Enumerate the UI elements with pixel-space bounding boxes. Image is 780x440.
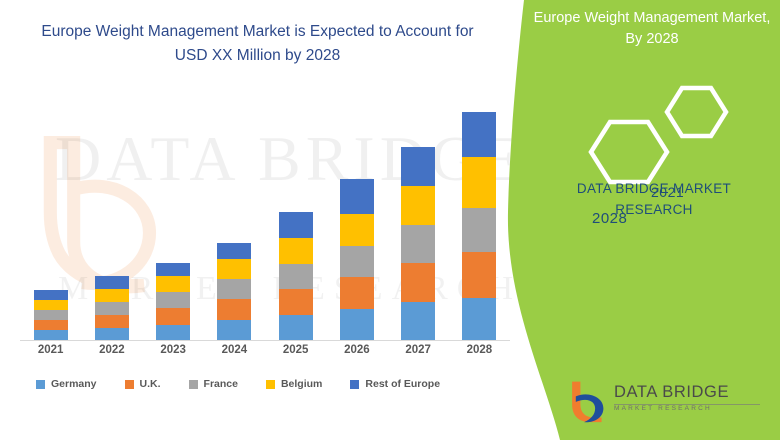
logo-divider (614, 404, 760, 405)
legend-label: France (204, 378, 238, 390)
bar-chart-plot-area (20, 95, 510, 340)
bar-segment-2027-germany (401, 302, 435, 340)
bar-segment-2026-belgium (340, 214, 374, 246)
logo-name: DATA BRIDGE (614, 383, 764, 402)
legend-swatch-icon (350, 380, 359, 389)
bar-2025[interactable] (279, 212, 313, 340)
company-logo: DATA BRIDGE MARKET RESEARCH (562, 378, 762, 424)
bar-segment-2027-france (401, 225, 435, 263)
bar-segment-2021-belgium (34, 300, 68, 310)
bar-segment-2022-germany (95, 328, 129, 340)
chart-legend: GermanyU.K.FranceBelgiumRest of Europe (36, 374, 516, 394)
x-axis-label-2023: 2023 (143, 344, 203, 356)
chart-title: Europe Weight Management Market is Expec… (30, 20, 485, 68)
hexagon-group: 2021 2028 (578, 82, 748, 187)
bar-2021[interactable] (34, 290, 68, 340)
bar-2022[interactable] (95, 276, 129, 340)
legend-item-u-k[interactable]: U.K. (125, 378, 161, 390)
bar-2027[interactable] (401, 147, 435, 340)
bar-segment-2024-france (217, 279, 251, 299)
x-axis-label-2026: 2026 (327, 344, 387, 356)
bar-segment-2023-france (156, 292, 190, 308)
bar-segment-2024-germany (217, 320, 251, 340)
brand-tagline-line2: RESEARCH (536, 199, 772, 220)
bar-segment-2023-germany (156, 325, 190, 340)
bar-2023[interactable] (156, 263, 190, 340)
bar-segment-2028-rest-of-europe (462, 112, 496, 157)
brand-tagline: DATA BRIDGE MARKET RESEARCH (536, 178, 772, 220)
bar-segment-2023-belgium (156, 276, 190, 292)
legend-label: U.K. (140, 378, 161, 390)
legend-item-germany[interactable]: Germany (36, 378, 97, 390)
bar-segment-2027-rest-of-europe (401, 147, 435, 186)
bar-2024[interactable] (217, 243, 251, 340)
logo-tagline: MARKET RESEARCH (614, 405, 764, 412)
logo-wordmark: DATA BRIDGE MARKET RESEARCH (614, 383, 764, 412)
legend-swatch-icon (36, 380, 45, 389)
bar-segment-2021-france (34, 310, 68, 320)
bar-segment-2028-belgium (462, 157, 496, 208)
bar-segment-2022-u-k (95, 315, 129, 328)
bar-segment-2025-belgium (279, 238, 313, 264)
hexagon-2021-shape (667, 88, 726, 136)
bar-segment-2022-rest-of-europe (95, 276, 129, 289)
bar-segment-2025-germany (279, 315, 313, 340)
brand-tagline-line1: DATA BRIDGE MARKET (536, 178, 772, 199)
legend-item-belgium[interactable]: Belgium (266, 378, 322, 390)
legend-swatch-icon (266, 380, 275, 389)
x-axis-labels: 20212022202320242025202620272028 (20, 344, 510, 364)
bar-segment-2026-u-k (340, 277, 374, 309)
legend-label: Germany (51, 378, 97, 390)
x-axis-label-2024: 2024 (204, 344, 264, 356)
legend-item-france[interactable]: France (189, 378, 238, 390)
bar-segment-2024-belgium (217, 259, 251, 279)
legend-label: Belgium (281, 378, 322, 390)
legend-item-rest-of-europe[interactable]: Rest of Europe (350, 378, 440, 390)
bar-segment-2021-u-k (34, 320, 68, 330)
chart-baseline (20, 340, 510, 341)
x-axis-label-2022: 2022 (82, 344, 142, 356)
legend-swatch-icon (125, 380, 134, 389)
bar-segment-2027-belgium (401, 186, 435, 225)
bar-segment-2025-rest-of-europe (279, 212, 313, 238)
bar-segment-2025-france (279, 264, 313, 289)
hexagon-shapes-icon (578, 82, 748, 187)
x-axis-label-2027: 2027 (388, 344, 448, 356)
x-axis-label-2028: 2028 (449, 344, 509, 356)
bar-segment-2021-rest-of-europe (34, 290, 68, 300)
bar-2026[interactable] (340, 179, 374, 340)
infographic-slide: DATA BRIDGE MARKET RESEARCH Europe Weigh… (0, 0, 780, 440)
legend-swatch-icon (189, 380, 198, 389)
panel-title: Europe Weight Management Market, By 2028 (532, 8, 772, 50)
bar-segment-2025-u-k (279, 289, 313, 315)
bar-segment-2028-u-k (462, 252, 496, 298)
bar-segment-2026-rest-of-europe (340, 179, 374, 214)
hexagon-2028-shape (591, 122, 667, 182)
legend-label: Rest of Europe (365, 378, 440, 390)
bar-segment-2024-rest-of-europe (217, 243, 251, 259)
bar-segment-2023-rest-of-europe (156, 263, 190, 276)
bar-segment-2022-belgium (95, 289, 129, 302)
bar-segment-2023-u-k (156, 308, 190, 325)
bar-segment-2028-france (462, 208, 496, 252)
green-panel-content: Europe Weight Management Market, By 2028… (530, 0, 780, 440)
x-axis-label-2025: 2025 (266, 344, 326, 356)
bar-segment-2026-france (340, 246, 374, 277)
bar-segment-2022-france (95, 302, 129, 315)
bar-segment-2026-germany (340, 309, 374, 340)
bar-segment-2027-u-k (401, 263, 435, 302)
bar-segment-2028-germany (462, 298, 496, 340)
data-bridge-logo-icon (562, 378, 608, 424)
chart-panel: Europe Weight Management Market is Expec… (0, 0, 540, 440)
bar-2028[interactable] (462, 112, 496, 340)
bar-segment-2021-germany (34, 330, 68, 340)
x-axis-label-2021: 2021 (21, 344, 81, 356)
bar-segment-2024-u-k (217, 299, 251, 320)
